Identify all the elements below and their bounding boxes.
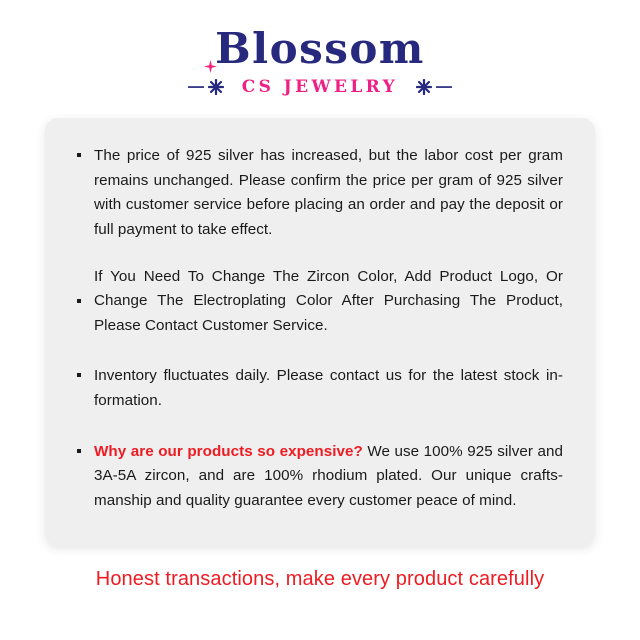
bullet-dot-icon bbox=[77, 449, 81, 453]
bullet-text: If You Need To Change The Zircon Color, … bbox=[94, 268, 563, 334]
list-item: The price of 925 silver has increased, b… bbox=[75, 144, 563, 243]
list-item: If You Need To Change The Zircon Color, … bbox=[75, 265, 563, 339]
bullet-highlight-text: Why are our products so expensive? bbox=[94, 443, 363, 460]
snowflake-ornament-icon bbox=[188, 78, 234, 96]
list-item: Why are our products so expensive? We us… bbox=[75, 440, 563, 514]
brand-subtitle-wrap: CS JEWELRY bbox=[0, 77, 640, 97]
brand-name: Blossom bbox=[215, 26, 425, 72]
list-item: Inventory fluctuates daily. Please conta… bbox=[75, 364, 563, 413]
snowflake-ornament-icon bbox=[406, 78, 452, 96]
notice-card: The price of 925 silver has increased, b… bbox=[45, 118, 595, 546]
bullet-dot-icon bbox=[77, 373, 81, 377]
bullet-dot-icon bbox=[77, 153, 81, 157]
brand-subtitle: CS JEWELRY bbox=[239, 77, 401, 97]
bullet-dot-icon bbox=[77, 299, 81, 303]
bullet-text: Inventory fluctuates daily. Please conta… bbox=[94, 367, 563, 409]
brand-title-wrap: Blossom bbox=[215, 26, 425, 72]
brand-header: Blossom CS JEWELRY bbox=[0, 0, 640, 97]
footer-slogan: Honest transactions, make every product … bbox=[0, 568, 640, 591]
bullet-text: The price of 925 silver has increased, b… bbox=[94, 147, 563, 238]
notice-list: The price of 925 silver has increased, b… bbox=[75, 144, 563, 514]
